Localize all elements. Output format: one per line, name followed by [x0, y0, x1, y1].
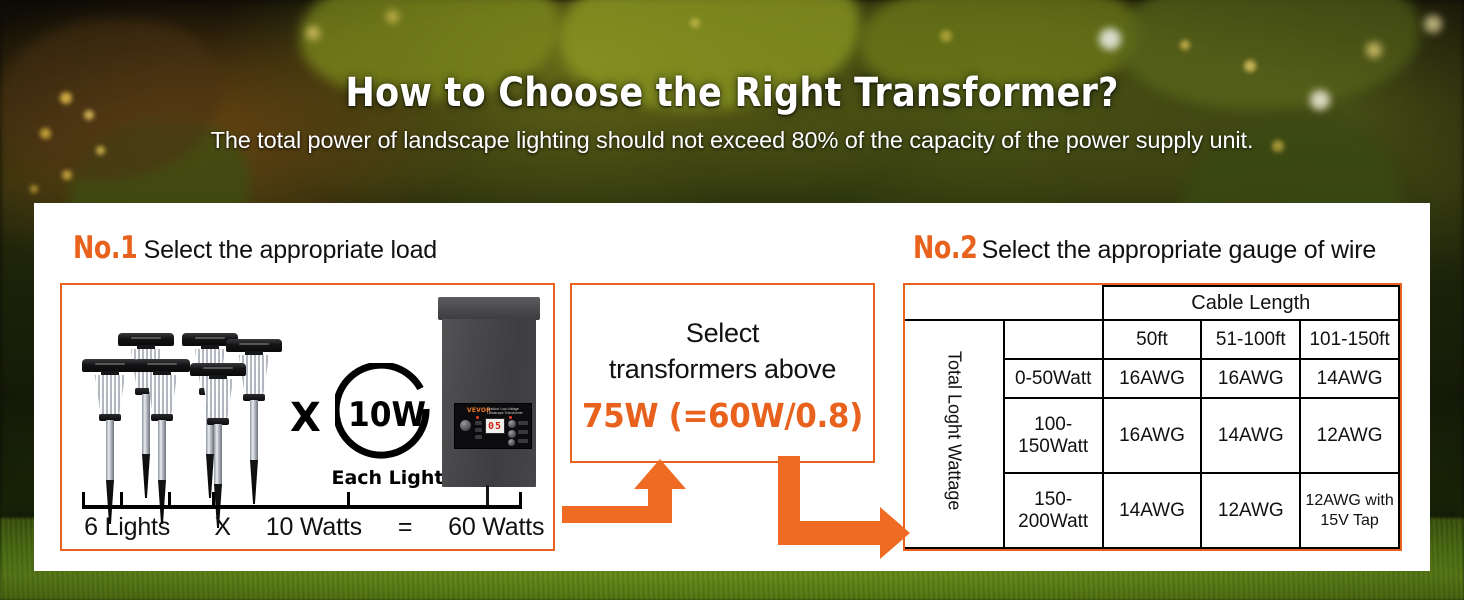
transformer-switch — [475, 435, 482, 439]
transformer-dial — [460, 420, 471, 431]
transformer-display: 05 — [485, 418, 505, 434]
table-row-group-header: Cable Length — [905, 286, 1399, 320]
step-2-number: No.2 — [913, 230, 977, 266]
path-lights-group — [82, 333, 282, 498]
callout-text: Select transformers above — [609, 315, 836, 387]
table-cell: 14AWG — [1103, 473, 1202, 548]
table-row-label: 150-200Watt — [1004, 473, 1103, 548]
status-led — [509, 416, 512, 419]
header: How to Choose the Right Transformer? The… — [0, 0, 1464, 154]
table-column-header: 101-150ft — [1300, 320, 1399, 359]
multiply-symbol: X — [290, 395, 321, 441]
table: Cable Length Total Loght Wattage 50ft 51… — [905, 285, 1400, 549]
table-row-label: 100-150Watt — [1004, 398, 1103, 473]
transformer-dial — [508, 439, 515, 446]
transformer-terminal — [518, 421, 528, 425]
transformer-terminal — [518, 439, 528, 443]
step-2-heading: No.2 Select the appropriate gauge of wir… — [913, 230, 1376, 266]
transformer-icon: VEVOR Outdoor Low-VoltageLandscape Trans… — [436, 297, 542, 489]
table-row-column-headers: Total Loght Wattage 50ft 51-100ft 101-15… — [905, 320, 1399, 359]
transformer-dial — [508, 420, 516, 428]
transformer-control-panel: VEVOR Outdoor Low-VoltageLandscape Trans… — [454, 403, 532, 449]
table-cell: 12AWG — [1300, 398, 1399, 473]
page-title: How to Choose the Right Transformer? — [88, 70, 1376, 116]
arrow-right-icon — [778, 456, 910, 559]
table-column-header: 51-100ft — [1201, 320, 1300, 359]
callout-value: 75W (=60W/0.8) — [582, 396, 863, 435]
equation-lights: 6 Lights — [62, 513, 192, 542]
measurement-bracket — [82, 492, 522, 510]
table-row-axis-label: Total Loght Wattage — [905, 320, 1004, 548]
equation-operator-multiply: X — [192, 513, 253, 542]
watt-badge: 10W Each Light — [330, 363, 452, 493]
load-equation: 6 Lights X 10 Watts = 60 Watts — [62, 513, 557, 542]
wire-gauge-table: Cable Length Total Loght Wattage 50ft 51… — [903, 283, 1402, 551]
table-header-blank — [1004, 320, 1103, 359]
watt-value: 10W — [339, 363, 435, 467]
load-calculation-box: X 10W Each Light = VEVOR Outdoor Low-Vol… — [60, 283, 555, 551]
equation-watts: 10 Watts — [253, 513, 375, 542]
table-cell: 14AWG — [1201, 398, 1300, 473]
transformer-recommendation-box: Select transformers above 75W (=60W/0.8) — [570, 283, 875, 463]
transformer-switch — [475, 421, 482, 425]
table-row-label: 0-50Watt — [1004, 359, 1103, 398]
table-corner-cell — [905, 286, 1103, 320]
table-column-header: 50ft — [1103, 320, 1202, 359]
transformer-dial — [508, 430, 516, 438]
status-led — [476, 416, 479, 419]
page-subtitle: The total power of landscape lighting sh… — [0, 127, 1464, 154]
step-1-heading: No.1 Select the appropriate load — [73, 230, 437, 266]
step-2-label: Select the appropriate gauge of wire — [982, 236, 1376, 265]
step-1-label: Select the appropriate load — [144, 236, 437, 265]
watt-badge-label: Each Light — [330, 467, 445, 489]
transformer-body: VEVOR Outdoor Low-VoltageLandscape Trans… — [442, 319, 536, 487]
table-cell: 16AWG — [1201, 359, 1300, 398]
row-axis-text: Total Loght Wattage — [943, 351, 964, 510]
transformer-terminal — [518, 430, 528, 434]
equation-operator-equals: = — [375, 513, 436, 542]
step-1-number: No.1 — [73, 230, 137, 266]
transformer-switch — [475, 428, 482, 432]
transformer-lid — [438, 297, 540, 320]
arrow-up-icon — [562, 459, 686, 523]
table-cell: 16AWG — [1103, 398, 1202, 473]
table-cell: 16AWG — [1103, 359, 1202, 398]
table-cell: 14AWG — [1300, 359, 1399, 398]
table-cell: 12AWG — [1201, 473, 1300, 548]
equation-total: 60 Watts — [435, 513, 557, 542]
vevor-logo-subtitle: Outdoor Low-VoltageLandscape Transformer — [487, 407, 523, 416]
table-cell: 12AWG with 15V Tap — [1300, 473, 1399, 548]
content-panel: No.1 Select the appropriate load No.2 Se… — [34, 203, 1430, 571]
table-column-group-header: Cable Length — [1103, 286, 1399, 320]
